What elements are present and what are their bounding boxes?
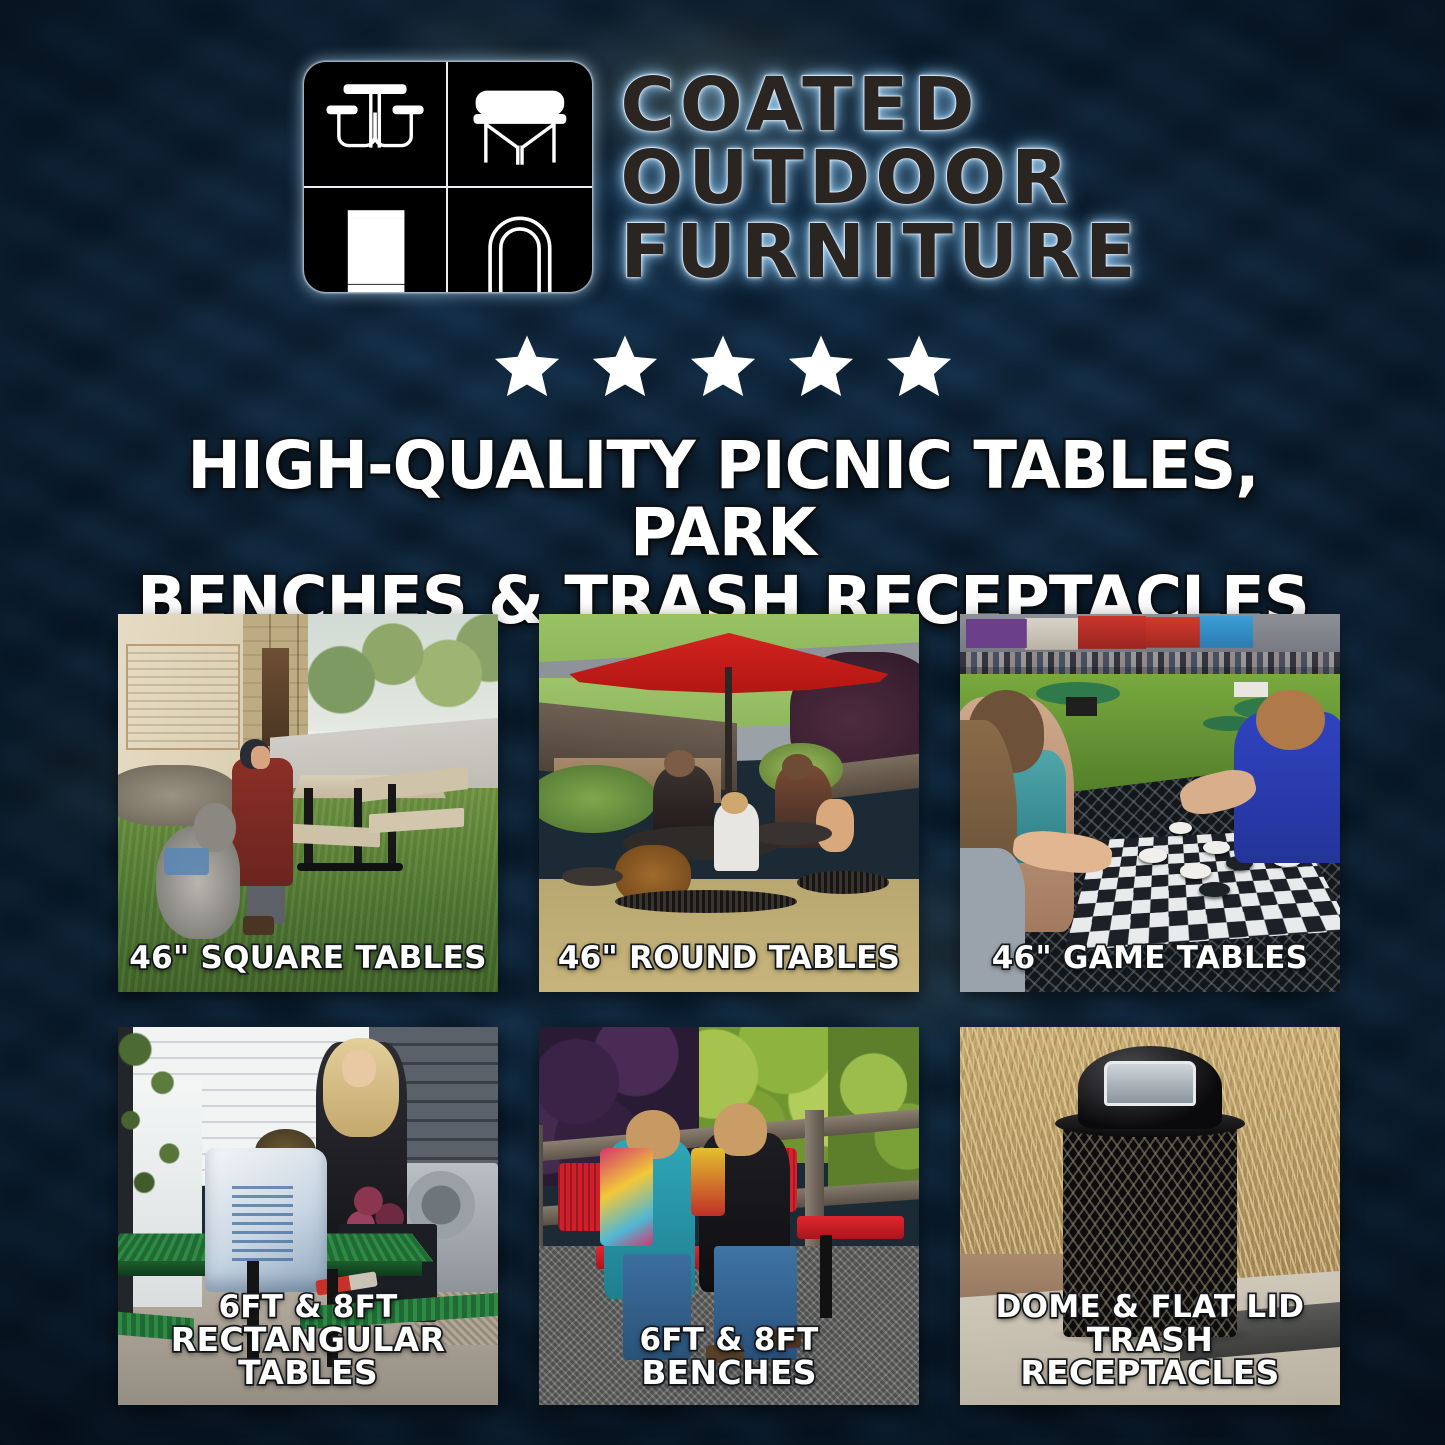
caption-line-1: 46" SQUARE TABLES [118,943,498,974]
star-icon [589,332,661,402]
headline: HIGH-QUALITY PICNIC TABLES, PARK BENCHES… [93,432,1353,634]
square-tables-tile[interactable]: 46" SQUARE TABLES [118,614,498,992]
brand-logo: COATED OUTDOOR FURNITURE [0,62,1445,292]
dome-lid-trash-icon [448,188,592,292]
headline-line-1: HIGH-QUALITY PICNIC TABLES, PARK [111,432,1333,567]
promo-poster: COATED OUTDOOR FURNITURE HIGH-QUALITY PI… [0,0,1445,1445]
logo-mark [304,62,592,292]
star-icon [491,332,563,402]
logo-line-2: OUTDOOR [620,143,1140,214]
logo-wordmark: COATED OUTDOOR FURNITURE [620,66,1140,287]
benches-caption: 6FT & 8FT BENCHES [539,1325,919,1389]
game-tables-photo [960,614,1340,992]
caption-line-2: BENCHES [539,1356,919,1389]
caption-line-2: RECTANGULAR TABLES [118,1323,498,1389]
round-tables-caption: 46" ROUND TABLES [539,943,919,974]
product-grid: 46" SQUARE TABLES [118,614,1340,1405]
game-tables-caption: 46" GAME TABLES [960,943,1340,974]
caption-line-1: 46" GAME TABLES [960,943,1340,974]
trash-receptacles-caption: DOME & FLAT LID TRASH RECEPTACLES [960,1292,1340,1389]
caption-line-1: 6FT & 8FT [539,1325,919,1356]
park-bench-icon [448,62,592,188]
star-icon [883,332,955,402]
round-tables-tile[interactable]: 46" ROUND TABLES [539,614,919,992]
rectangular-tables-tile[interactable]: 6FT & 8FT RECTANGULAR TABLES [118,1027,498,1405]
caption-line-1: DOME & FLAT LID [960,1292,1340,1323]
logo-line-1: COATED [620,70,1140,141]
star-icon [785,332,857,402]
flat-lid-trash-icon [304,188,448,292]
rectangular-tables-caption: 6FT & 8FT RECTANGULAR TABLES [118,1292,498,1389]
star-rating [0,332,1445,402]
caption-line-2: TRASH RECEPTACLES [960,1323,1340,1389]
game-tables-tile[interactable]: 46" GAME TABLES [960,614,1340,992]
square-tables-caption: 46" SQUARE TABLES [118,943,498,974]
logo-line-3: FURNITURE [620,217,1140,288]
caption-line-1: 46" ROUND TABLES [539,943,919,974]
picnic-table-icon [304,62,448,188]
trash-receptacles-tile[interactable]: DOME & FLAT LID TRASH RECEPTACLES [960,1027,1340,1405]
caption-line-1: 6FT & 8FT [118,1292,498,1323]
star-icon [687,332,759,402]
benches-tile[interactable]: 6FT & 8FT BENCHES [539,1027,919,1405]
round-tables-photo [539,614,919,992]
square-tables-photo [118,614,498,992]
